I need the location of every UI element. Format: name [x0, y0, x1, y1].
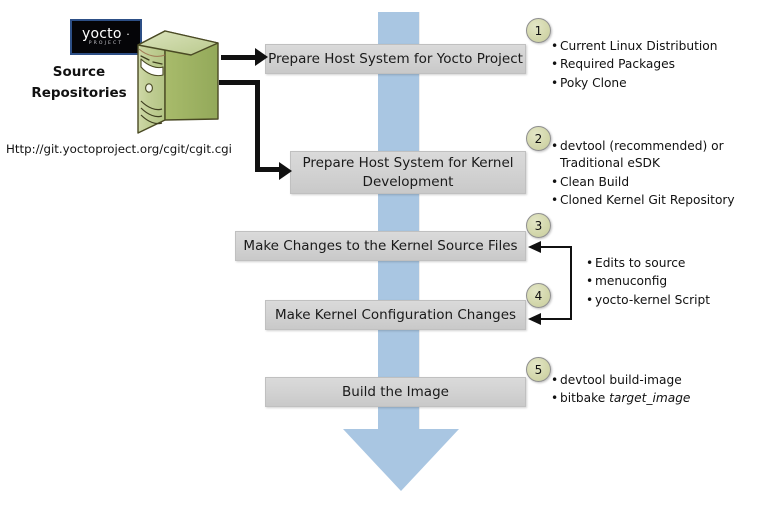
bullet-list-step-5: •devtool build-image •bitbake target_ima… [551, 372, 766, 409]
process-box-build-image[interactable]: Build the Image [265, 377, 526, 407]
bullet-text-bitbake: bitbake target_image [560, 390, 766, 407]
bitbake-target-argument: target_image [609, 391, 690, 405]
yocto-logo-subtext: PROJECT [89, 42, 124, 47]
bullet-dot-icon: • [586, 273, 595, 290]
bullet-dot-icon: • [551, 56, 560, 73]
step-5-number: 5 [535, 363, 543, 377]
source-repository-url: Http://git.yoctoproject.org/cgit/cgit.cg… [6, 142, 246, 156]
list-item: •bitbake target_image [551, 390, 766, 407]
bracket-connector-branch-step4 [540, 318, 572, 320]
step-number-badge-5: 5 [526, 357, 551, 382]
step-4-number: 4 [535, 289, 543, 303]
server-tower-icon [135, 25, 221, 137]
bullet-list-steps-3-and-4: •Edits to source •menuconfig •yocto-kern… [586, 255, 766, 310]
connector-server-to-step2-segment-top [219, 80, 260, 85]
process-box-2-label-line1: Prepare Host System for Kernel [302, 155, 513, 171]
yocto-logo-wordmark: yocto · [82, 27, 130, 41]
bullet-dot-icon: • [551, 174, 560, 191]
bullet-text: Current Linux Distribution [560, 38, 766, 55]
source-label-line-1: Source [18, 62, 140, 83]
bullet-dot-icon: • [551, 192, 560, 209]
bullet-dot-icon: • [551, 138, 560, 155]
step-2-number: 2 [535, 132, 543, 146]
process-box-2-label: Prepare Host System for Kernel Developme… [302, 154, 513, 190]
bullet-dot-icon: • [551, 390, 560, 407]
flow-spine-bar [378, 12, 419, 430]
connector-server-to-step2-segment-vertical [255, 80, 260, 172]
list-item: •devtool (recommended) or Traditional eS… [551, 138, 766, 173]
source-repositories-label: Source Repositories [18, 62, 140, 104]
list-item: •Cloned Kernel Git Repository [551, 192, 766, 209]
list-item: •devtool build-image [551, 372, 766, 389]
bracket-arrowhead-step3-icon [528, 241, 541, 253]
bullet-list-step-2: •devtool (recommended) or Traditional eS… [551, 138, 766, 210]
step-number-badge-4: 4 [526, 283, 551, 308]
step-number-badge-2: 2 [526, 126, 551, 151]
connector-server-to-step1-arrowhead-icon [255, 48, 268, 66]
bracket-connector-branch-step3 [540, 246, 572, 248]
step-3-number: 3 [535, 219, 543, 233]
connector-server-to-step2-arrowhead-icon [279, 162, 292, 180]
bitbake-command: bitbake [560, 391, 609, 405]
process-box-make-config-changes[interactable]: Make Kernel Configuration Changes [265, 300, 526, 330]
bullet-dot-icon: • [551, 75, 560, 92]
bullet-text: Edits to source [595, 255, 766, 272]
bullet-dot-icon: • [586, 255, 595, 272]
list-item: •Edits to source [586, 255, 766, 272]
process-box-make-source-changes[interactable]: Make Changes to the Kernel Source Files [235, 231, 526, 261]
bullet-text: menuconfig [595, 273, 766, 290]
process-box-4-label: Make Kernel Configuration Changes [275, 306, 516, 324]
bullet-text: Cloned Kernel Git Repository [560, 192, 766, 209]
list-item: •Clean Build [551, 174, 766, 191]
diagram-canvas: yocto · PROJECT Source Repositories Http… [0, 0, 769, 517]
bullet-text: Poky Clone [560, 75, 766, 92]
list-item: •menuconfig [586, 273, 766, 290]
bracket-arrowhead-step4-icon [528, 313, 541, 325]
bullet-list-step-1: •Current Linux Distribution •Required Pa… [551, 38, 766, 93]
process-box-prepare-host-kernel[interactable]: Prepare Host System for Kernel Developme… [290, 151, 526, 194]
step-number-badge-3: 3 [526, 213, 551, 238]
step-1-number: 1 [535, 24, 543, 38]
bullet-text: yocto-kernel Script [595, 292, 766, 309]
bullet-dot-icon: • [586, 292, 595, 309]
bullet-text: devtool build-image [560, 372, 766, 389]
bullet-dot-icon: • [551, 372, 560, 389]
list-item: •Current Linux Distribution [551, 38, 766, 55]
bullet-dot-icon: • [551, 38, 560, 55]
list-item: •Required Packages [551, 56, 766, 73]
bullet-text: devtool (recommended) or Traditional eSD… [560, 138, 766, 173]
source-label-line-2: Repositories [18, 83, 140, 104]
process-box-prepare-host-yocto[interactable]: Prepare Host System for Yocto Project [265, 44, 526, 74]
bracket-connector-vertical [570, 246, 572, 320]
yocto-project-logo: yocto · PROJECT [70, 19, 142, 55]
bullet-text: Clean Build [560, 174, 766, 191]
list-item: •yocto-kernel Script [586, 292, 766, 309]
bullet-text: Required Packages [560, 56, 766, 73]
step-number-badge-1: 1 [526, 18, 551, 43]
process-box-5-label: Build the Image [342, 383, 449, 401]
flow-spine-arrowhead-icon [343, 429, 459, 491]
process-box-3-label: Make Changes to the Kernel Source Files [243, 237, 517, 255]
process-box-2-label-line2: Development [363, 174, 454, 190]
connector-server-to-step1-shaft [221, 55, 257, 60]
list-item: •Poky Clone [551, 75, 766, 92]
process-box-1-label: Prepare Host System for Yocto Project [268, 50, 523, 68]
